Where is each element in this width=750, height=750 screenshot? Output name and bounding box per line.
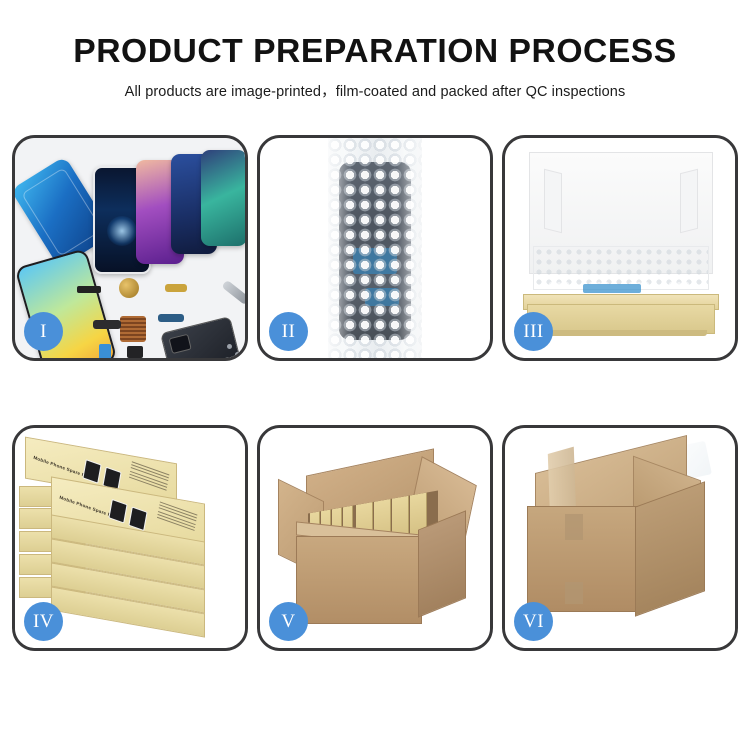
process-step-5: V [257,425,493,651]
carton-front-face [527,506,641,612]
screen-photo [82,459,101,484]
copper-coil-part-image [119,278,139,298]
chip-grid-part-image [120,316,146,342]
process-step-1: I [12,135,248,361]
back-cover-part-image [160,316,242,358]
flex-cable-part-image [93,320,121,329]
carton-right-face [635,481,705,616]
carton-front-face [296,536,422,624]
spec-lines [129,461,170,492]
step-badge-4: IV [24,602,63,641]
lid-tab-right [680,169,698,233]
step-badge-6: VI [514,602,553,641]
process-step-2: II [257,135,493,361]
process-step-6: VI [502,425,738,651]
teal-phone-image [201,150,245,246]
product-preparation-infographic: PRODUCT PREPARATION PROCESS All products… [0,0,750,750]
page-subtitle: All products are image-printed，film-coat… [0,80,750,101]
earpiece-part-image [127,346,143,358]
page-header: PRODUCT PREPARATION PROCESS All products… [0,0,750,101]
carton-right-face [418,510,466,617]
gold-flex-cable-part-image [165,284,187,292]
box-base-shadow [533,330,707,336]
step-badge-5: V [269,602,308,641]
step-badge-3: III [514,312,553,351]
speaker-bar-part-image [77,286,101,293]
camera-module-part-image [99,344,111,358]
process-step-4: Mobile Phone Spare Parts Mobile Phone Sp… [12,425,248,651]
screen-photo [108,499,127,524]
screw-part-image [227,344,232,349]
repair-tool-image [221,280,245,306]
step-badge-1: I [24,312,63,351]
lid-tab-left [544,169,562,233]
tape-tab-lower [565,582,583,604]
process-step-3: III [502,135,738,361]
process-step-grid: I II [0,135,750,651]
screw-part-image [235,352,240,357]
plastic-sheen-overlay [328,138,422,358]
tape-tab-upper [565,514,583,540]
spec-lines [157,501,198,532]
step-badge-2: II [269,312,308,351]
page-title: PRODUCT PREPARATION PROCESS [0,34,750,69]
screen-photo [128,506,147,531]
blue-flex-cable-part-image [158,314,184,322]
